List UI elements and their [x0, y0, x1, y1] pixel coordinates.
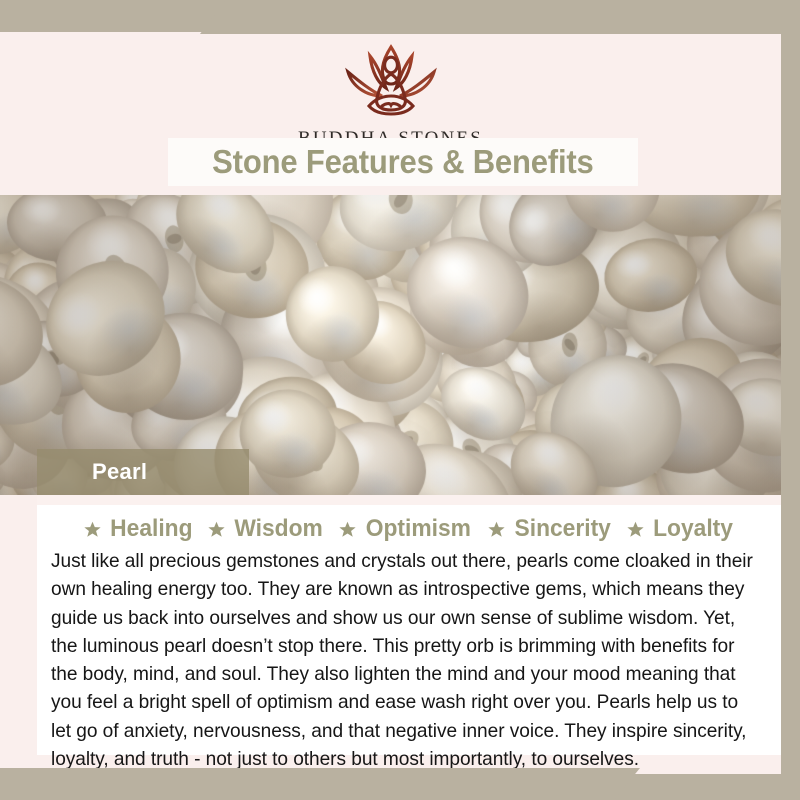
corner-wedge-top	[200, 0, 800, 34]
benefit-label: Loyalty	[654, 515, 734, 543]
benefit-item: Healing	[83, 515, 195, 543]
benefit-label: Optimism	[366, 515, 471, 543]
description-text: Just like all precious gemstones and cry…	[51, 547, 756, 773]
lotus-meditation-icon	[322, 38, 460, 126]
infographic-page: BUDDHA STONES Stone Features & Benefits …	[0, 0, 800, 800]
stone-name-label: Pearl	[92, 459, 147, 485]
page-title: Stone Features & Benefits	[212, 143, 593, 181]
star-icon	[626, 520, 645, 539]
star-icon	[207, 520, 226, 539]
stone-name-band: Pearl	[37, 449, 249, 495]
benefit-item: Wisdom	[207, 515, 325, 543]
benefits-list: HealingWisdomOptimismSincerityLoyalty	[51, 512, 767, 546]
benefit-label: Sincerity	[515, 515, 611, 543]
photo-panel-divider	[37, 495, 781, 505]
star-icon	[338, 520, 357, 539]
benefit-item: Loyalty	[626, 515, 735, 543]
title-banner: Stone Features & Benefits	[168, 138, 638, 186]
benefit-item: Sincerity	[487, 515, 613, 543]
description-panel: HealingWisdomOptimismSincerityLoyalty Ju…	[37, 505, 781, 755]
corner-wedge-bottom	[0, 768, 640, 800]
pearl-gemstones-photo: Pearl	[0, 195, 781, 495]
benefit-label: Wisdom	[235, 515, 323, 543]
brand-logo: BUDDHA STONES	[0, 32, 781, 150]
content-card: BUDDHA STONES Stone Features & Benefits …	[0, 32, 781, 774]
benefit-item: Optimism	[338, 515, 474, 543]
benefit-label: Healing	[110, 515, 192, 543]
header: BUDDHA STONES Stone Features & Benefits	[0, 32, 781, 198]
star-icon	[487, 520, 506, 539]
star-icon	[83, 520, 102, 539]
